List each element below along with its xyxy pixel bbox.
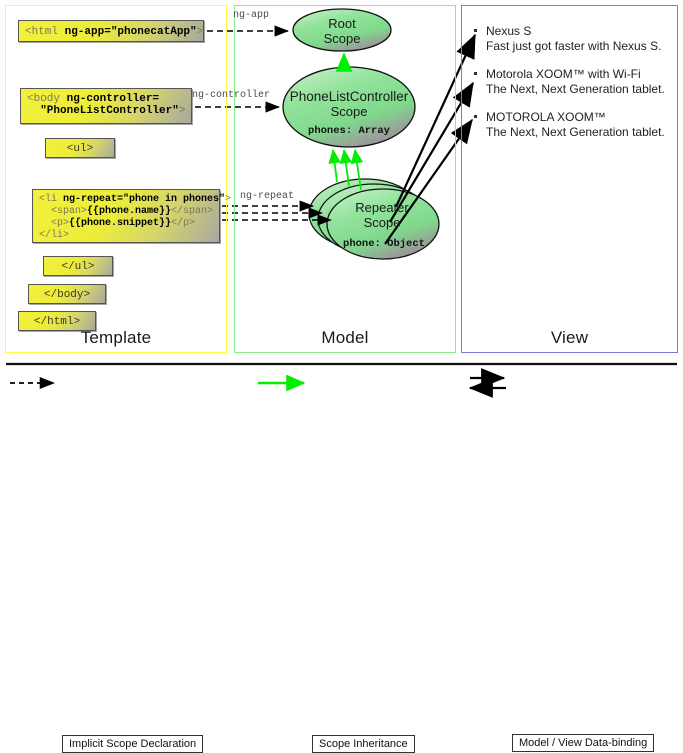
code-span-prefix: <span> [39,206,87,217]
code-body-prefix: <body [27,93,67,105]
diagram-canvas: Template Model View <html ng-app="phonec… [0,0,683,411]
code-box-li: <li ng-repeat="phone in phones"> <span>{… [32,189,220,243]
code-html-prefix: <html [25,26,65,38]
bullet-icon [474,115,477,118]
code-body-directive: ng-controller= [67,93,159,105]
legend-item-model-view-data-binding: Model / View Data-binding [512,734,654,752]
code-box-ul-close: </ul> [43,256,113,276]
edge-label-ng-controller: ng-controller [192,90,270,101]
list-item-desc: The Next, Next Generation tablet. [486,82,672,97]
code-box-body-close: </body> [28,284,106,304]
list-item: Nexus S Fast just got faster with Nexus … [472,24,672,54]
list-item-title: Nexus S [486,24,672,39]
code-box-ul-open: <ul> [45,138,115,158]
code-span-suffix: </span> [171,206,213,217]
list-item-desc: The Next, Next Generation tablet. [486,125,672,140]
legend-item-implicit-scope-declaration: Implicit Scope Declaration [62,735,203,753]
code-box-body-open: <body ng-controller= "PhoneListControlle… [20,88,192,124]
code-p-binding: {{phone.snippet}} [69,218,171,229]
edge-label-ng-app: ng-app [233,10,269,21]
list-item-title: MOTOROLA XOOM™ [486,110,672,125]
code-li-directive: ng-repeat="phone in phones" [63,194,225,205]
code-p-prefix: <p> [39,218,69,229]
panel-view-label: View [462,328,677,348]
panel-model: Model [234,5,456,353]
code-p-suffix: </p> [171,218,195,229]
code-li-close: </li> [39,230,69,241]
code-span-binding: {{phone.name}} [87,206,171,217]
list-item-desc: Fast just got faster with Nexus S. [486,39,672,54]
edge-label-ng-repeat: ng-repeat [240,191,294,202]
view-phone-list: Nexus S Fast just got faster with Nexus … [472,24,672,153]
code-body-suffix: > [179,105,186,117]
code-li-suffix: > [225,194,231,205]
code-box-html-open: <html ng-app="phonecatApp"> [18,20,204,42]
panel-model-label: Model [235,328,455,348]
code-html-suffix: > [197,26,204,38]
legend-item-scope-inheritance: Scope Inheritance [312,735,415,753]
code-body-controller-name: "PhoneListController" [40,105,179,117]
legend: Implicit Scope Declaration Scope Inherit… [0,360,683,411]
list-item-title: Motorola XOOM™ with Wi-Fi [486,67,672,82]
code-html-directive: ng-app="phonecatApp" [65,26,197,38]
code-box-html-close: </html> [18,311,96,331]
list-item: Motorola XOOM™ with Wi-Fi The Next, Next… [472,67,672,97]
bullet-icon [474,29,477,32]
code-li-prefix: <li [39,194,63,205]
list-item: MOTOROLA XOOM™ The Next, Next Generation… [472,110,672,140]
bullet-icon [474,72,477,75]
panel-template-label: Template [6,328,226,348]
